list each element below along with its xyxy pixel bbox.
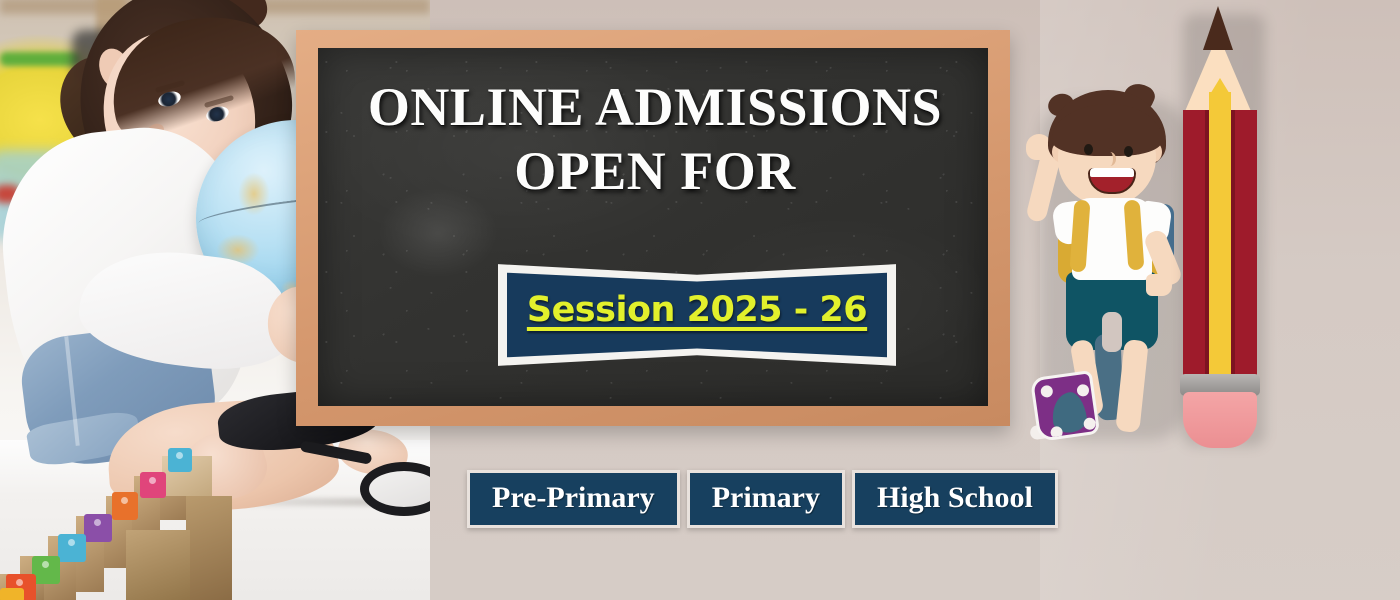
colored-peg	[84, 514, 112, 542]
wooden-block-tower	[126, 530, 190, 600]
colored-peg	[32, 556, 60, 584]
giant-pencil	[1175, 6, 1261, 446]
boy-hand-on-hip	[1146, 274, 1172, 296]
headline-line-2: OPEN FOR	[330, 140, 980, 204]
pencil-center-facet-tip	[1209, 78, 1231, 96]
sneaker-dot	[1076, 384, 1090, 398]
sneaker-dot	[1040, 385, 1054, 399]
colored-peg	[168, 448, 192, 472]
boy-shorts-gap	[1102, 312, 1122, 352]
session-ribbon: Session 2025 - 26	[498, 262, 896, 368]
sneaker-dot	[1083, 417, 1097, 431]
category-button-pre-primary[interactable]: Pre-Primary	[467, 470, 680, 528]
colored-peg	[140, 472, 166, 498]
session-label: Session 2025 - 26	[498, 290, 896, 330]
boy-eye-right	[1124, 146, 1133, 157]
boy-nose	[1104, 152, 1116, 166]
admissions-banner: ONLINE ADMISSIONS OPEN FOR Session 2025 …	[0, 0, 1400, 600]
colored-peg	[112, 492, 138, 520]
pencil-body-center-facet	[1209, 92, 1231, 382]
boy-teeth	[1090, 168, 1134, 177]
pencil-lead-tip	[1203, 6, 1233, 50]
wooden-block-tower	[186, 496, 232, 600]
sneaker-dot	[1050, 426, 1064, 440]
colored-peg	[0, 588, 24, 600]
green-toy-blur	[0, 52, 80, 66]
colored-peg	[58, 534, 86, 562]
headline-line-1: ONLINE ADMISSIONS	[330, 76, 980, 140]
page-title: ONLINE ADMISSIONS OPEN FOR	[330, 76, 980, 203]
category-button-primary[interactable]: Primary	[687, 470, 845, 528]
pencil-eraser	[1183, 392, 1257, 448]
boy-eye-left	[1084, 144, 1093, 155]
category-button-group: Pre-Primary Primary High School	[467, 470, 1058, 528]
category-button-high-school[interactable]: High School	[852, 470, 1058, 528]
boy-sneaker	[1030, 370, 1100, 442]
